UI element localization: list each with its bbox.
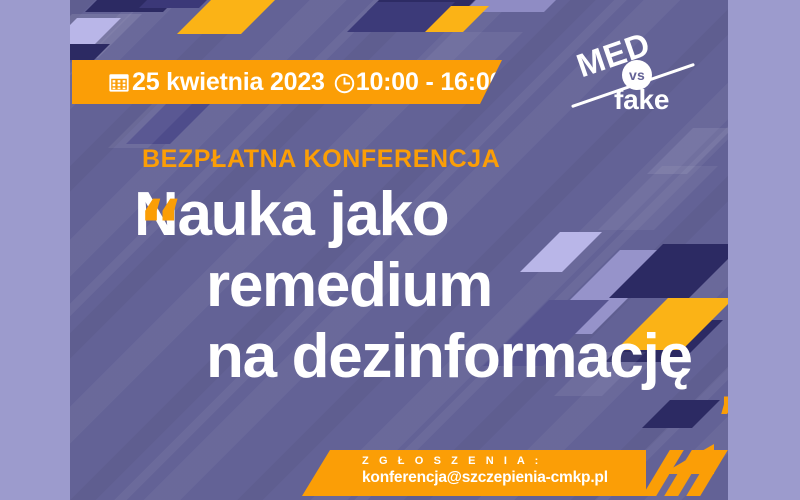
- title-line-1: Nauka jako: [100, 185, 728, 246]
- logo-word-fake: fake: [614, 84, 669, 116]
- title-line-2: remedium: [100, 256, 728, 317]
- event-time: 10:00 - 16:00: [356, 68, 504, 97]
- event-date: 25 kwietnia 2023: [132, 68, 325, 97]
- med-vs-fake-logo: MED vs fake: [570, 22, 700, 122]
- date-time-text: 25 kwietnia 2023 10:00 - 16:00: [108, 68, 503, 97]
- registration-label: Z G Ł O S Z E N I A :: [362, 455, 646, 467]
- title-line-3: na dezinformację: [100, 327, 728, 388]
- clock-icon: [334, 72, 355, 93]
- poster-canvas: 25 kwietnia 2023 10:00 - 16:00 MED vs fa…: [70, 0, 728, 500]
- conference-poster: 25 kwietnia 2023 10:00 - 16:00 MED vs fa…: [0, 0, 800, 500]
- calendar-icon: [108, 71, 130, 93]
- quote-close-mark: “: [716, 363, 728, 419]
- right-margin-band: [728, 0, 800, 500]
- kicker-text: BEZPŁATNA KONFERENCJA: [142, 145, 500, 174]
- left-margin-band: [0, 0, 70, 500]
- quote-open-mark: “: [138, 191, 184, 261]
- registration-banner: Z G Ł O S Z E N I A : konferencja@szczep…: [302, 450, 646, 496]
- registration-email[interactable]: konferencja@szczepienia-cmkp.pl: [362, 469, 646, 487]
- poster-title: “ Nauka jako remedium na dezinformację “: [100, 185, 728, 387]
- date-time-banner: 25 kwietnia 2023 10:00 - 16:00: [72, 60, 502, 104]
